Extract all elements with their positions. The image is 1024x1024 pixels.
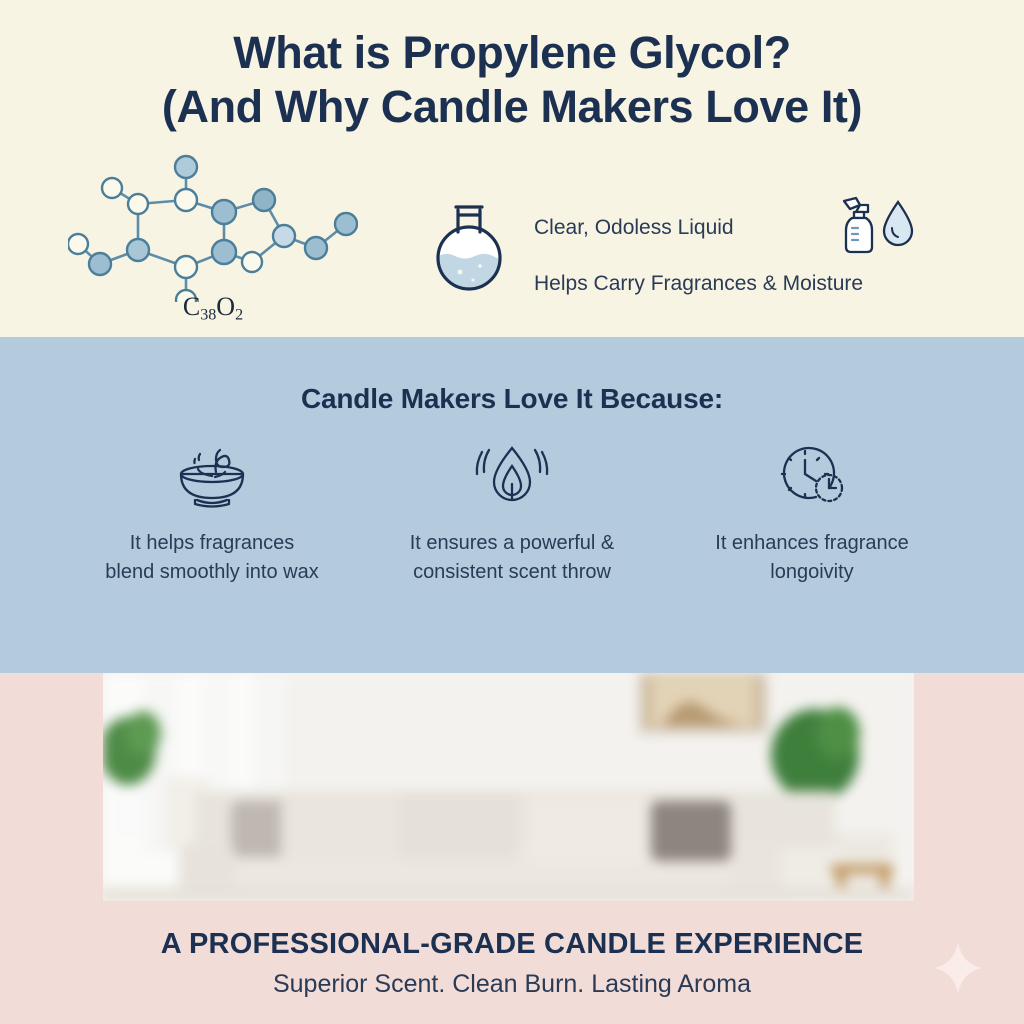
formula-element-c: C bbox=[183, 292, 200, 321]
flame-scent-icon bbox=[473, 437, 551, 511]
sparkle-star-icon bbox=[932, 940, 984, 996]
chemical-formula: C38O2 bbox=[68, 292, 358, 325]
title-line-1: What is Propylene Glycol? bbox=[0, 26, 1024, 80]
benefit-text-3: It enhances fragrance longoivity bbox=[705, 529, 920, 587]
benefit-text-2: It ensures a powerful & consistent scent… bbox=[405, 529, 620, 587]
benefit-item-3: It enhances fragrance longoivity bbox=[662, 437, 962, 587]
title-line-2: (And Why Candle Makers Love It) bbox=[0, 80, 1024, 134]
benefits-row: It helps fragrances blend smoothly into … bbox=[62, 437, 962, 587]
page-title: What is Propylene Glycol? (And Why Candl… bbox=[0, 26, 1024, 134]
laboratory-flask-icon bbox=[430, 196, 508, 296]
spray-and-droplet-icons bbox=[830, 195, 920, 257]
living-room-photo bbox=[103, 673, 914, 901]
spray-bottle-icon bbox=[844, 198, 872, 252]
cta-subtitle: Superior Scent. Clean Burn. Lasting Arom… bbox=[0, 970, 1024, 999]
cta-title: A PROFESSIONAL-GRADE CANDLE EXPERIENCE bbox=[0, 928, 1024, 961]
infographic-canvas: What is Propylene Glycol? (And Why Candl… bbox=[0, 0, 1024, 1024]
water-droplet-icon bbox=[884, 202, 912, 245]
intro-section: What is Propylene Glycol? (And Why Candl… bbox=[0, 0, 1024, 337]
benefits-heading: Candle Makers Love It Because: bbox=[0, 383, 1024, 415]
benefits-section: Candle Makers Love It Because: bbox=[0, 337, 1024, 673]
property-item-2: Helps Carry Fragrances & Moisture bbox=[534, 256, 954, 312]
cta-section: A PROFESSIONAL-GRADE CANDLE EXPERIENCE S… bbox=[0, 673, 1024, 1024]
benefit-item-1: It helps fragrances blend smoothly into … bbox=[62, 437, 362, 587]
formula-element-o: O bbox=[216, 292, 235, 321]
formula-subscript-38: 38 bbox=[200, 307, 216, 324]
benefit-text-1: It helps fragrances blend smoothly into … bbox=[105, 529, 320, 587]
molecule-structure-icon bbox=[68, 152, 358, 302]
formula-subscript-2: 2 bbox=[235, 307, 243, 324]
steaming-bowl-icon bbox=[171, 437, 253, 511]
benefit-item-2: It ensures a powerful & consistent scent… bbox=[362, 437, 662, 587]
clock-timer-icon bbox=[771, 437, 853, 511]
